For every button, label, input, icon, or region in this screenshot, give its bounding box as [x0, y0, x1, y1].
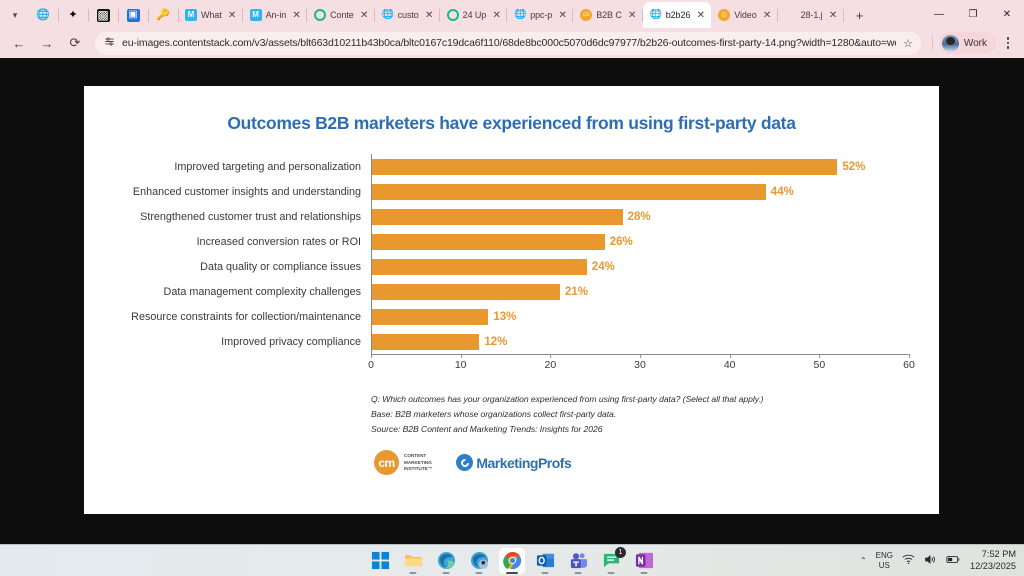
tab-close-button[interactable]: ✕ [556, 9, 569, 22]
x-axis-tick: 30 [634, 355, 646, 371]
tab-title: b2b26 [666, 10, 691, 20]
tab-strip: ▾ 🌐✦▩▣🔑 MWhat✕MAn-in✕Conte✕🌐custo✕24 Up✕… [0, 0, 1024, 28]
marketingprofs-mark-icon [456, 454, 473, 471]
tick-mark [371, 354, 372, 358]
running-indicator [410, 572, 417, 574]
tab-title: custo [398, 10, 419, 20]
x-tick-label: 20 [544, 359, 556, 371]
taskbar-onenote[interactable] [631, 548, 657, 574]
x-axis-tick: 0 [368, 355, 374, 371]
bar-chart-plot: Improved targeting and personalizationEn… [84, 154, 939, 382]
tick-mark [730, 354, 731, 358]
bar-row: 21% [372, 279, 909, 304]
tab-favicon-icon: ☺ [718, 9, 730, 21]
forward-button[interactable]: → [34, 30, 60, 56]
x-axis-tick: 10 [455, 355, 467, 371]
x-tick-label: 0 [368, 359, 374, 371]
tray-expand-chevron-icon[interactable]: ⌃ [860, 556, 867, 565]
notification-badge: 1 [615, 547, 626, 558]
browser-window: ▾ 🌐✦▩▣🔑 MWhat✕MAn-in✕Conte✕🌐custo✕24 Up✕… [0, 0, 1024, 544]
toolbar-divider [932, 36, 933, 51]
taskbar-teams[interactable] [565, 548, 591, 574]
category-label-row: Strengthened customer trust and relation… [84, 204, 371, 229]
tab-favicon-icon: M [185, 9, 197, 21]
tab-close-button[interactable]: ✕ [490, 9, 503, 22]
browser-tab-6[interactable]: coB2B C✕ [573, 2, 643, 28]
browser-tab-8[interactable]: ☺Video✕ [711, 2, 777, 28]
category-label-row: Improved targeting and personalization [84, 154, 371, 179]
x-tick-label: 40 [724, 359, 736, 371]
bar [372, 159, 837, 175]
profile-chip[interactable]: Work [939, 32, 996, 54]
chart-image: Outcomes B2B marketers have experienced … [84, 86, 939, 514]
outlook-icon [536, 551, 555, 570]
cmi-line-3: INSTITUTE™ [404, 466, 432, 471]
running-indicator [641, 572, 648, 574]
marketingprofs-wordmark: MarketingProfs [476, 455, 571, 471]
bar [372, 284, 560, 300]
language-top: ENG [876, 551, 893, 560]
clock-date: 12/23/2025 [970, 561, 1016, 571]
running-indicator [476, 572, 483, 574]
bar-value-label: 12% [484, 336, 507, 348]
battery-icon[interactable] [946, 554, 961, 568]
browser-tab-3[interactable]: 🌐custo✕ [375, 2, 440, 28]
bar [372, 309, 488, 325]
browser-tab-5[interactable]: 🌐ppc-p✕ [507, 2, 573, 28]
bar-value-label: 28% [628, 211, 651, 223]
bar-value-label: 13% [493, 311, 516, 323]
category-label-row: Increased conversion rates or ROI [84, 229, 371, 254]
bar-row: 44% [372, 179, 909, 204]
bar-row: 12% [372, 329, 909, 354]
tab-close-button[interactable]: ✕ [827, 9, 840, 22]
tab-favicon-icon [785, 9, 797, 21]
tab-title: 24 Up [463, 10, 487, 20]
back-button[interactable]: ← [6, 30, 32, 56]
taskbar-chrome-browser[interactable] [499, 548, 525, 574]
qr-pinned-icon: ▩ [97, 9, 110, 22]
tab-title: What [201, 10, 222, 20]
wifi-icon[interactable] [902, 554, 915, 568]
x-axis-tick: 60 [903, 355, 915, 371]
window-controls: — ❐ ✕ [922, 0, 1024, 28]
category-label-row: Data management complexity challenges [84, 279, 371, 304]
x-axis-tick: 40 [724, 355, 736, 371]
chrome-menu-button[interactable] [998, 37, 1018, 49]
tab-title: 28-1.j [801, 10, 823, 20]
category-label-row: Data quality or compliance issues [84, 254, 371, 279]
category-label-row: Resource constraints for collection/main… [84, 304, 371, 329]
password-pinned-tab[interactable]: 🔑 [148, 2, 178, 28]
taskbar-chat[interactable]: 1 [598, 548, 624, 574]
chat-pinned-icon: ▣ [127, 9, 140, 22]
tab-close-button[interactable]: ✕ [626, 9, 639, 22]
cmi-line-2: MARKETING [404, 460, 432, 465]
close-window-button[interactable]: ✕ [990, 1, 1024, 27]
tab-favicon-icon: M [250, 9, 262, 21]
reload-button[interactable]: ⟳ [62, 30, 88, 56]
taskbar-edge-browser[interactable] [433, 548, 459, 574]
tab-favicon-icon: 🌐 [382, 9, 394, 21]
address-bar[interactable]: eu-images.contentstack.com/v3/assets/blt… [95, 32, 921, 55]
x-axis-tick: 50 [813, 355, 825, 371]
browser-tab-7[interactable]: 🌐b2b26✕ [643, 2, 712, 28]
browser-tab-1[interactable]: MAn-in✕ [243, 2, 308, 28]
tab-search-chevron-icon[interactable]: ▾ [2, 2, 28, 28]
tab-favicon-icon: 🌐 [650, 9, 662, 21]
running-indicator [506, 572, 518, 574]
tab-title: ppc-p [530, 10, 552, 20]
x-axis-tick: 20 [544, 355, 556, 371]
minimize-button[interactable]: — [922, 1, 956, 27]
marketingprofs-logo: MarketingProfs [456, 454, 571, 471]
taskbar-outlook[interactable] [532, 548, 558, 574]
tab-close-button[interactable]: ✕ [694, 9, 707, 22]
running-indicator [608, 572, 615, 574]
bar [372, 334, 479, 350]
bar-row: 13% [372, 304, 909, 329]
page-viewport: Outcomes B2B marketers have experienced … [0, 58, 1024, 544]
globe-pinned-icon: 🌐 [36, 10, 50, 21]
tab-favicon-icon: 🌐 [514, 9, 526, 21]
start-button-icon [371, 551, 390, 570]
tab-close-button[interactable]: ✕ [423, 9, 436, 22]
profile-label: Work [964, 38, 987, 49]
x-tick-label: 50 [813, 359, 825, 371]
x-tick-label: 60 [903, 359, 915, 371]
language-indicator[interactable]: ENG US [876, 551, 893, 569]
bar-value-label: 26% [610, 236, 633, 248]
category-label: Data quality or compliance issues [200, 261, 361, 273]
bar [372, 184, 766, 200]
taskbar-start-button[interactable] [367, 548, 393, 574]
file-explorer-icon [404, 551, 423, 570]
tab-title: Video [734, 10, 756, 20]
running-indicator [575, 572, 582, 574]
x-axis: 0102030405060 [371, 354, 909, 376]
system-tray: ⌃ ENG US 7:52 PM 12/23/202 [860, 549, 1016, 572]
maximize-button[interactable]: ❐ [956, 1, 990, 27]
bookmark-star-icon[interactable]: ☆ [903, 37, 913, 50]
footnote: Source: B2B Content and Marketing Trends… [371, 422, 939, 437]
tab-title: B2B C [596, 10, 622, 20]
cmi-wordmark: CONTENT MARKETING INSTITUTE™ [404, 453, 432, 473]
onenote-icon [635, 551, 654, 570]
browser-tab-0[interactable]: MWhat✕ [178, 2, 243, 28]
edge-browser-icon [437, 551, 456, 570]
bar [372, 234, 605, 250]
tab-close-button[interactable]: ✕ [358, 9, 371, 22]
x-tick-label: 30 [634, 359, 646, 371]
tab-close-button[interactable]: ✕ [290, 9, 303, 22]
tab-favicon-icon: co [580, 9, 592, 21]
tab-close-button[interactable]: ✕ [761, 9, 774, 22]
url-text[interactable]: eu-images.contentstack.com/v3/assets/blt… [122, 37, 896, 49]
taskbar-edge-browser-profile[interactable] [466, 548, 492, 574]
bar-row: 24% [372, 254, 909, 279]
tab-title: An-in [266, 10, 287, 20]
tab-close-button[interactable]: ✕ [226, 9, 239, 22]
cmi-mark-icon: cm [374, 450, 399, 475]
edge-browser-profile-icon [470, 551, 489, 570]
password-pinned-icon: 🔑 [156, 10, 170, 21]
browser-tab-9[interactable]: 28-1.j✕ [778, 2, 844, 28]
category-label-row: Enhanced customer insights and understan… [84, 179, 371, 204]
content-marketing-institute-logo: cm CONTENT MARKETING INSTITUTE™ [374, 450, 432, 475]
gemini-pinned-tab[interactable]: ✦ [58, 2, 88, 28]
browser-tab-4[interactable]: 24 Up✕ [440, 2, 508, 28]
site-settings-icon[interactable] [104, 34, 115, 52]
clock-time: 7:52 PM [982, 549, 1016, 559]
browser-toolbar: ← → ⟳ eu-images.contentstack.com/v3/asse… [0, 28, 1024, 58]
browser-tab-2[interactable]: Conte✕ [307, 2, 375, 28]
bar [372, 209, 623, 225]
windows-taskbar: 1 ⌃ ENG US 7:52 PM [0, 544, 1024, 576]
chat-pinned-tab[interactable]: ▣ [118, 2, 148, 28]
taskbar-file-explorer[interactable] [400, 548, 426, 574]
running-indicator [443, 572, 450, 574]
bar-value-label: 21% [565, 286, 588, 298]
bar-row: 28% [372, 204, 909, 229]
bar-row: 52% [372, 154, 909, 179]
tick-mark [550, 354, 551, 358]
qr-pinned-tab[interactable]: ▩ [88, 2, 118, 28]
cmi-line-1: CONTENT [404, 453, 426, 458]
bar [372, 259, 587, 275]
chrome-browser-icon [503, 551, 522, 570]
gemini-pinned-icon: ✦ [68, 10, 77, 21]
volume-icon[interactable] [924, 554, 937, 568]
footnote: Q: Which outcomes has your organization … [371, 392, 939, 407]
footnote: Base: B2B marketers whose organizations … [371, 407, 939, 422]
clock[interactable]: 7:52 PM 12/23/2025 [970, 549, 1016, 572]
language-bottom: US [879, 561, 890, 570]
running-indicator [542, 572, 549, 574]
category-label: Improved privacy compliance [221, 336, 361, 348]
bar-row: 26% [372, 229, 909, 254]
tab-favicon-icon [447, 9, 459, 21]
category-axis-labels: Improved targeting and personalizationEn… [84, 154, 371, 354]
tab-title: Conte [330, 10, 354, 20]
tick-mark [461, 354, 462, 358]
category-label: Improved targeting and personalization [174, 161, 361, 173]
new-tab-button[interactable]: + [849, 4, 871, 26]
logo-row: cm CONTENT MARKETING INSTITUTE™ Marketin… [374, 450, 939, 475]
category-label: Strengthened customer trust and relation… [140, 211, 361, 223]
category-label: Resource constraints for collection/main… [131, 311, 361, 323]
bar-value-label: 24% [592, 261, 615, 273]
tab-favicon-icon [314, 9, 326, 21]
tick-mark [640, 354, 641, 358]
bar-value-label: 52% [842, 161, 865, 173]
bars-area: 52%44%28%26%24%21%13%12% [371, 154, 909, 354]
chart-title: Outcomes B2B marketers have experienced … [84, 113, 939, 134]
category-label-row: Improved privacy compliance [84, 329, 371, 354]
chart-footnotes: Q: Which outcomes has your organization … [371, 392, 939, 436]
tick-mark [819, 354, 820, 358]
teams-icon [569, 551, 588, 570]
x-tick-label: 10 [455, 359, 467, 371]
tick-mark [909, 354, 910, 358]
category-label: Increased conversion rates or ROI [197, 236, 361, 248]
avatar [942, 35, 959, 52]
bar-value-label: 44% [771, 186, 794, 198]
category-label: Data management complexity challenges [164, 286, 361, 298]
globe-pinned-tab[interactable]: 🌐 [28, 2, 58, 28]
category-label: Enhanced customer insights and understan… [133, 186, 361, 198]
